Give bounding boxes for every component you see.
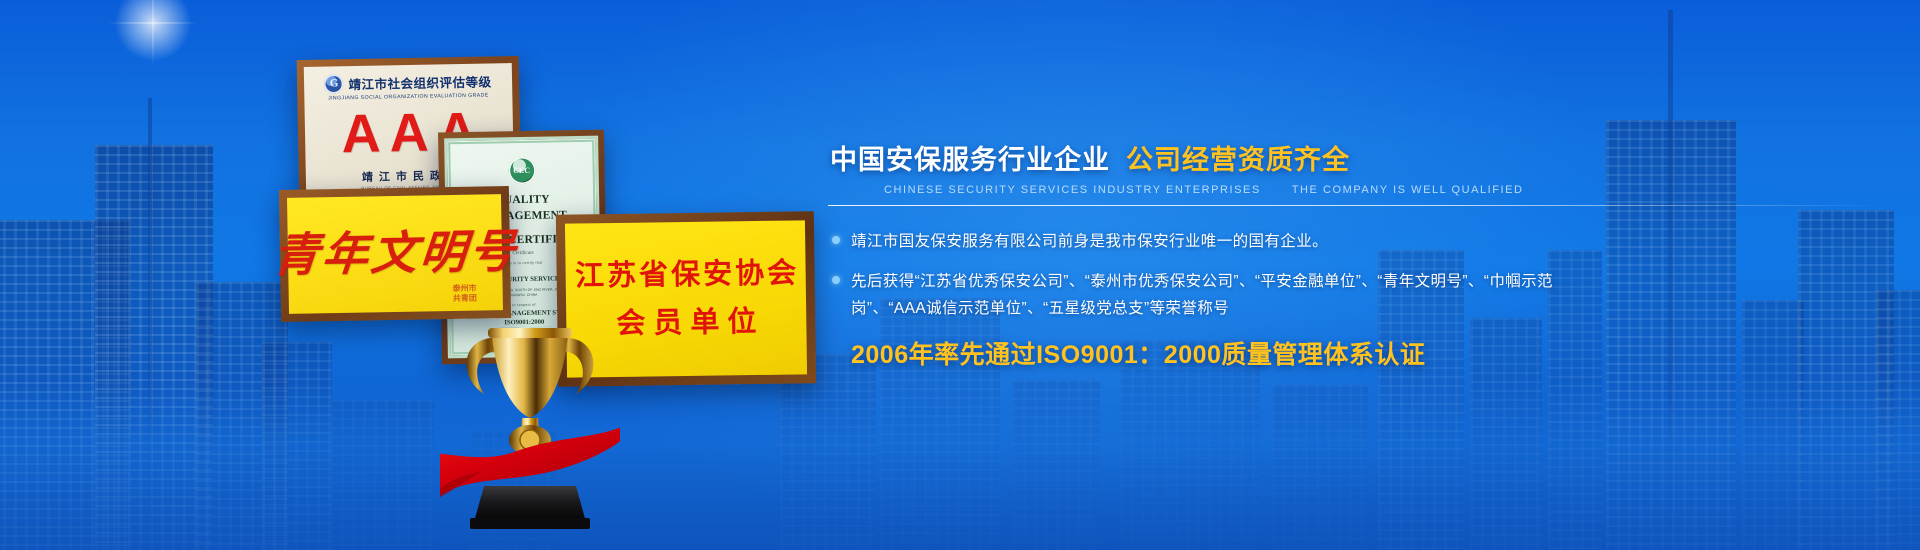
bullet-list: 靖江市国友保安服务有限公司前身是我市保安行业唯一的国有企业。 先后获得“江苏省优…: [822, 228, 1882, 322]
list-item: 先后获得“江苏省优秀保安公司”、“泰州市优秀保安公司”、“平安金融单位”、“青年…: [832, 268, 1882, 322]
subtitle-en-left: CHINESE SECURITY SERVICES INDUSTRY ENTER…: [884, 184, 1261, 196]
cec-seal-icon: [508, 157, 535, 184]
bullet-dot-icon: [832, 236, 840, 244]
assoc-line1: 江苏省保安协会: [572, 259, 799, 291]
subtitle-en-right: THE COMPANY IS WELL QUALIFIED: [1292, 184, 1524, 196]
headline-primary: 中国安保服务行业企业: [830, 138, 1110, 177]
promo-banner: 靖江市社会组织评估等级 JINGJIANG SOCIAL ORGANIZATIO…: [0, 0, 1920, 550]
jingjiang-seal-icon: [324, 74, 343, 93]
headline-subtitle-en: CHINESE SECURITY SERVICES INDUSTRY ENTER…: [822, 184, 1882, 196]
assoc-line2: 会员单位: [608, 307, 764, 338]
copy-block: 中国安保服务行业企业 公司经营资质齐全 CHINESE SECURITY SER…: [822, 138, 1882, 371]
bullet-dot-icon: [832, 276, 840, 284]
highlight-text: 2006年率先通过ISO9001：2000质量管理体系认证: [822, 335, 1882, 371]
bullet-text: 先后获得“江苏省优秀保安公司”、“泰州市优秀保安公司”、“平安金融单位”、“青年…: [851, 268, 1586, 322]
certificate-cluster: 靖江市社会组织评估等级 JINGJIANG SOCIAL ORGANIZATIO…: [280, 28, 800, 528]
aaa-org-en: JINGJIANG SOCIAL ORGANIZATION EVALUATION…: [328, 92, 489, 101]
youth-title: 青年文明号: [271, 229, 520, 279]
headline: 中国安保服务行业企业 公司经营资质齐全: [822, 138, 1882, 177]
headline-secondary: 公司经营资质齐全: [1126, 138, 1350, 177]
aaa-org-cn: 靖江市社会组织评估等级: [348, 71, 491, 93]
trophy-icon: [440, 290, 620, 540]
bullet-text: 靖江市国友保安服务有限公司前身是我市保安行业唯一的国有企业。: [851, 228, 1328, 255]
light-glint-icon: [108, 0, 198, 68]
divider: [828, 205, 1882, 206]
list-item: 靖江市国友保安服务有限公司前身是我市保安行业唯一的国有企业。: [832, 228, 1882, 255]
